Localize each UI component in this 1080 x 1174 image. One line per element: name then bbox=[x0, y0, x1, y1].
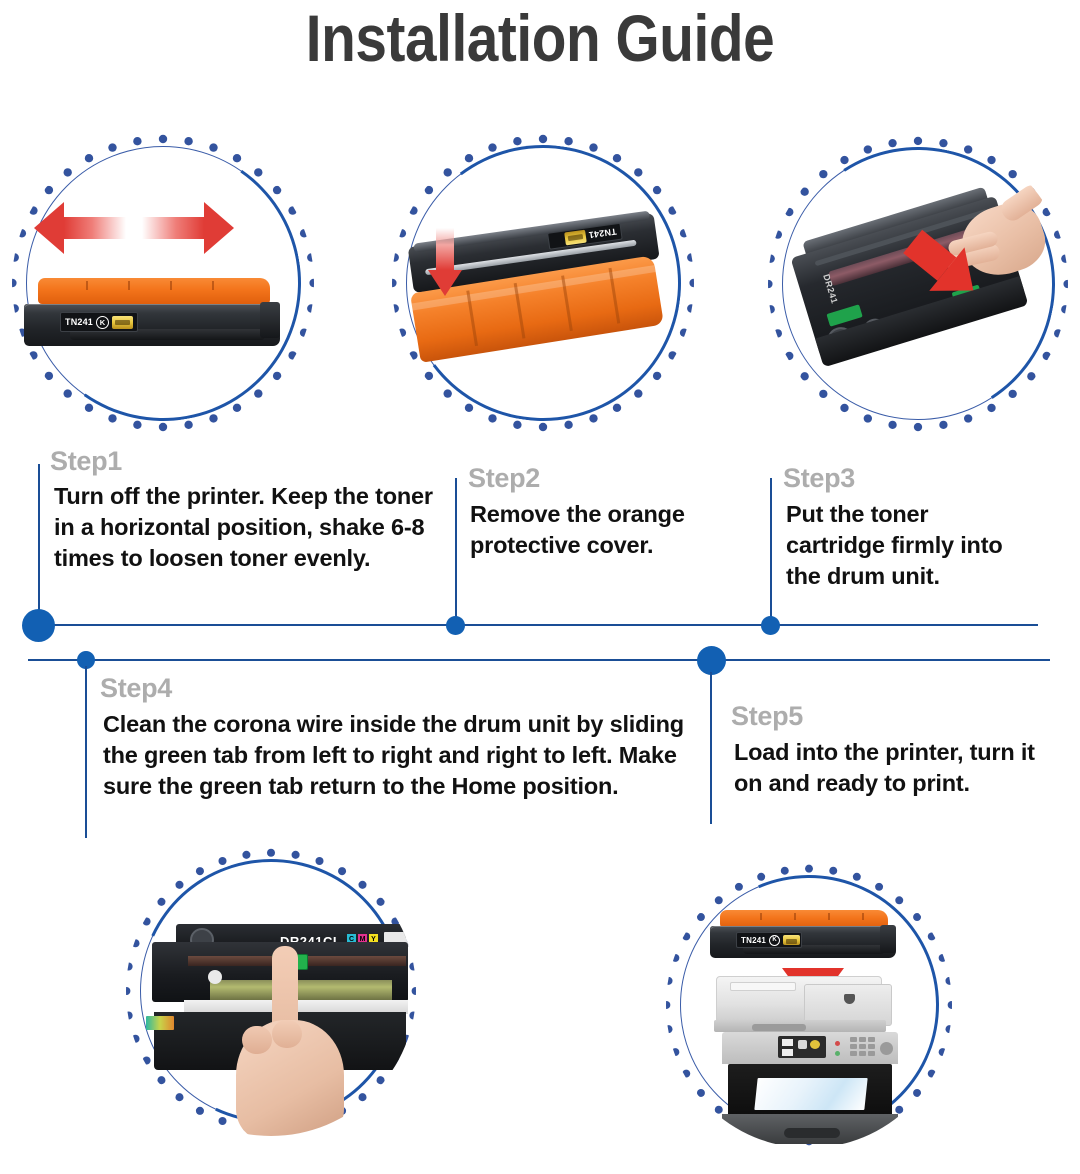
gold-sticker-icon bbox=[564, 230, 587, 246]
status-led-green bbox=[835, 1051, 840, 1056]
step5-text: Load into the printer, turn it on and re… bbox=[734, 737, 1052, 799]
lid-handle bbox=[752, 1024, 806, 1031]
step1-art: TN241 K bbox=[12, 132, 314, 434]
keypad bbox=[850, 1037, 875, 1056]
toner-cartridge: TN241 K bbox=[24, 278, 280, 353]
timeline-line-top bbox=[38, 624, 1038, 626]
knuckle-1 bbox=[242, 1026, 272, 1054]
timeline-node-3 bbox=[761, 616, 780, 635]
toner-model-text: TN241 bbox=[65, 317, 93, 327]
tray-handle bbox=[784, 1128, 840, 1138]
status-led-red bbox=[835, 1041, 840, 1046]
step2-art: TN241 bbox=[392, 132, 694, 434]
step3-label: Step3 bbox=[783, 463, 855, 494]
step1-illustration-circle: TN241 K bbox=[12, 132, 314, 434]
ok-button bbox=[880, 1042, 893, 1055]
orange-cap bbox=[38, 278, 270, 304]
step2-illustration-circle: TN241 bbox=[392, 132, 694, 434]
printed-paper bbox=[754, 1078, 867, 1110]
timeline-node-5 bbox=[697, 646, 726, 675]
step4-text: Clean the corona wire inside the drum un… bbox=[103, 709, 703, 802]
pointing-hand bbox=[230, 946, 370, 1136]
step1-connector bbox=[38, 464, 40, 626]
knuckle-2 bbox=[272, 1020, 302, 1048]
step5-art: TN241 K bbox=[666, 862, 952, 1148]
step2-label: Step2 bbox=[468, 463, 540, 494]
timeline-line-bottom bbox=[28, 659, 1050, 661]
step5-connector bbox=[710, 672, 712, 824]
step3-art: DR241 bbox=[768, 134, 1068, 434]
step5-label: Step5 bbox=[731, 701, 803, 732]
step1-text: Turn off the printer. Keep the toner in … bbox=[54, 481, 444, 574]
page-title: Installation Guide bbox=[76, 2, 1005, 75]
printer bbox=[708, 972, 924, 1148]
step4-illustration-circle: DR241CL C M Y bbox=[126, 846, 416, 1136]
step5-illustration-circle: TN241 K bbox=[666, 862, 952, 1148]
toner-model-label: TN241 K bbox=[60, 312, 138, 332]
toner-color-mark: K bbox=[96, 316, 109, 329]
timeline-node-1 bbox=[22, 609, 55, 642]
remove-cover-arrow-icon bbox=[428, 228, 462, 296]
toner-right-endcap bbox=[880, 925, 896, 953]
gold-sticker-icon bbox=[783, 935, 800, 945]
toner-model-text: TN241 bbox=[588, 227, 617, 241]
step3-connector bbox=[770, 478, 772, 626]
step4-connector bbox=[85, 666, 87, 838]
gold-sticker-icon bbox=[112, 316, 133, 329]
toner-cartridge: TN241 K bbox=[710, 910, 896, 962]
step2-connector bbox=[455, 478, 457, 626]
step3-illustration-circle: DR241 bbox=[768, 134, 1068, 434]
toner-color-mark: K bbox=[769, 935, 780, 946]
shake-arrow-icon bbox=[34, 202, 234, 254]
timeline-node-2 bbox=[446, 616, 465, 635]
step4-label: Step4 bbox=[100, 673, 172, 704]
step1-label: Step1 bbox=[50, 446, 122, 477]
drum-roller-end bbox=[208, 970, 222, 984]
toner-model-text: TN241 bbox=[741, 936, 766, 945]
step2-text: Remove the orange protective cover. bbox=[470, 499, 760, 561]
contact-chip bbox=[146, 1016, 174, 1030]
installation-guide-page: Installation Guide bbox=[0, 0, 1080, 1148]
scanner-slot bbox=[730, 982, 796, 991]
toner-right-endcap bbox=[260, 302, 280, 338]
step4-art: DR241CL C M Y bbox=[126, 846, 416, 1136]
step3-text: Put the toner cartridge firmly into the … bbox=[786, 499, 1021, 592]
toner-model-label: TN241 K bbox=[736, 932, 802, 948]
